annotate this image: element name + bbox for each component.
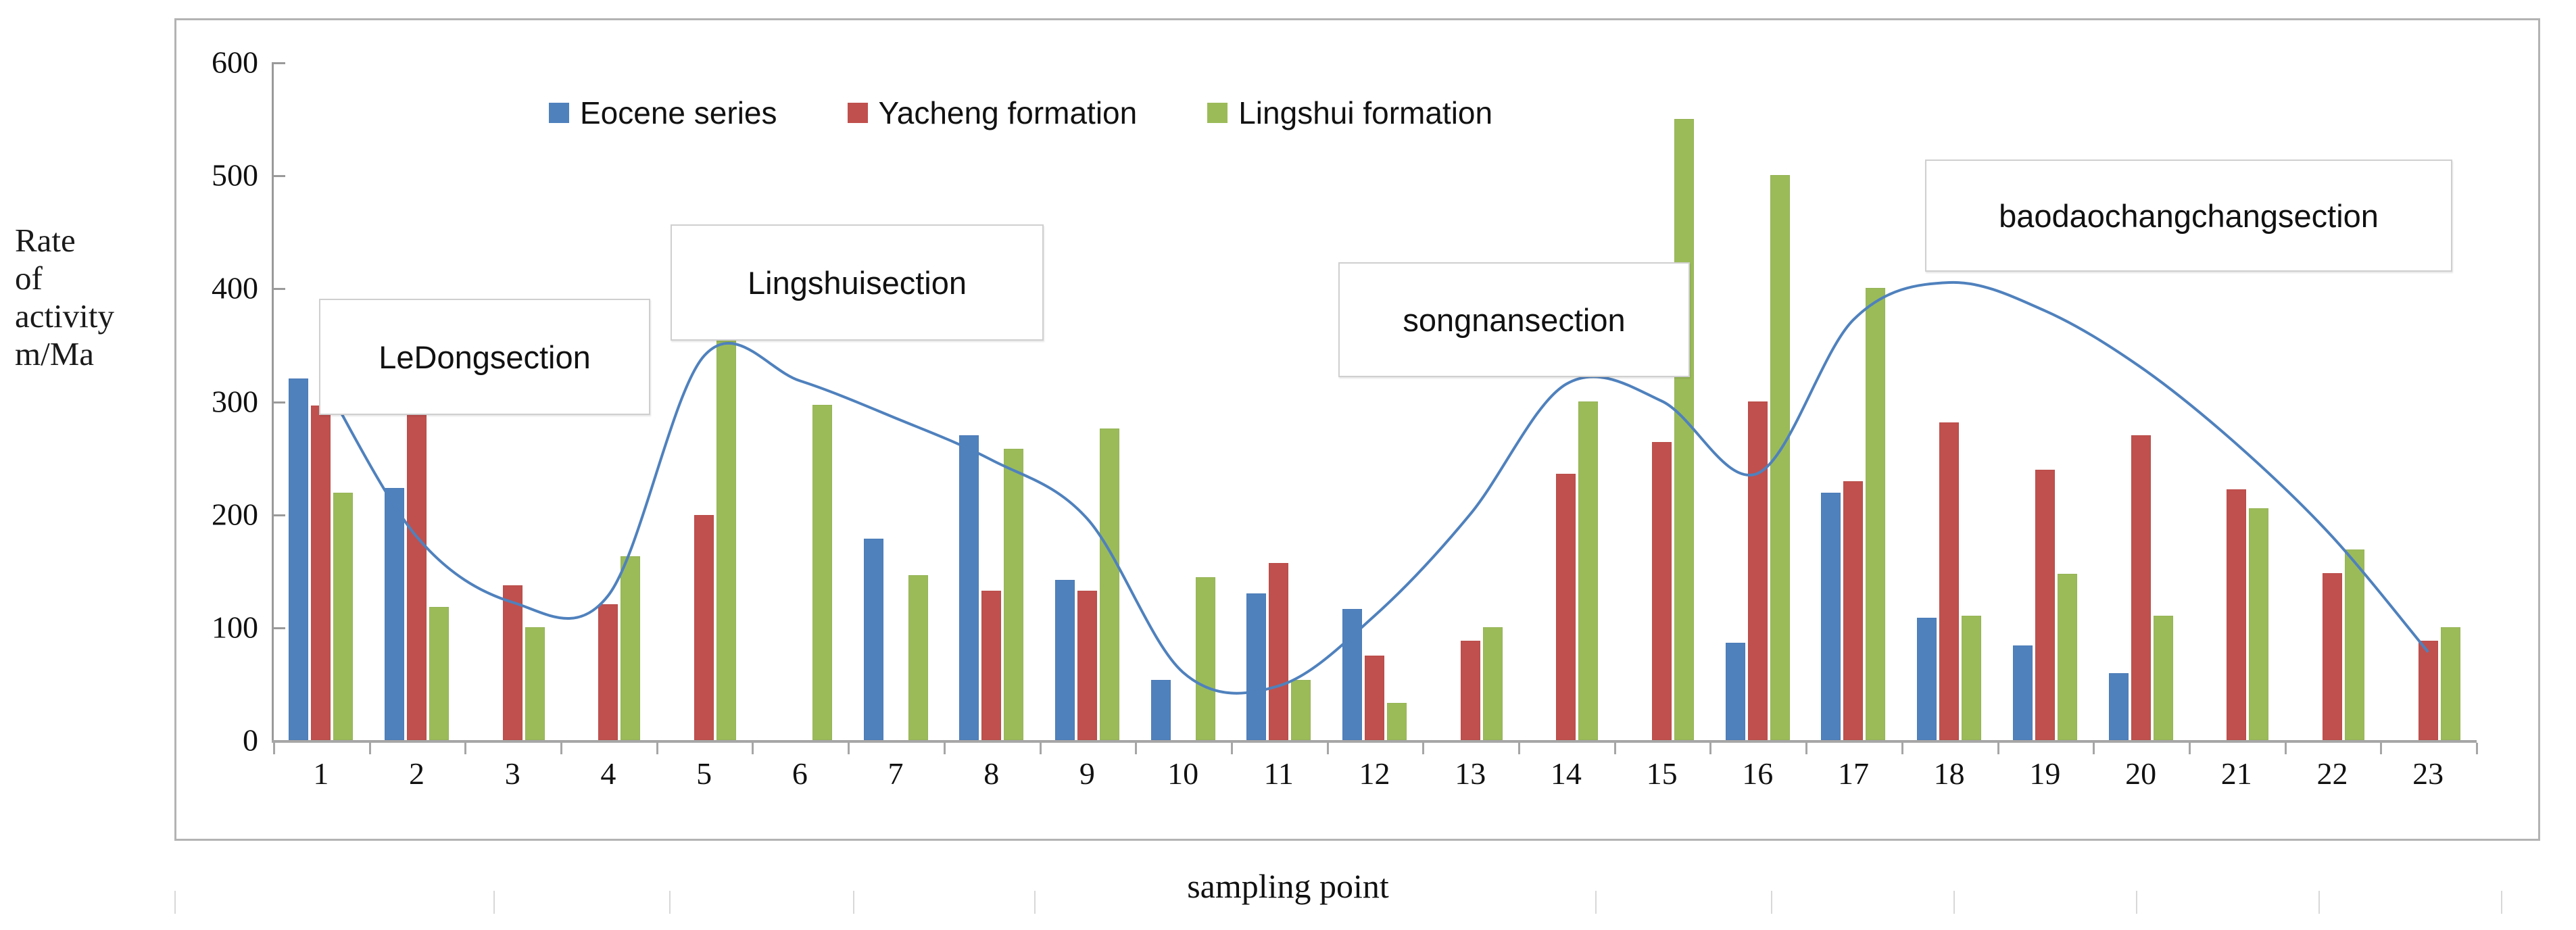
x-tick-label: 4: [568, 756, 649, 791]
legend-swatch-icon: [848, 103, 868, 123]
bar-group: [1518, 62, 1614, 740]
bar-group: [656, 62, 752, 740]
bar-eocene: [1821, 493, 1841, 740]
bar-group: [1709, 62, 1805, 740]
bar-yacheng: [2419, 641, 2438, 740]
annotation-callout: baodaochangchangsection: [1925, 160, 2452, 272]
x-tick-label: 23: [2387, 756, 2469, 791]
bar-lingshui: [1100, 429, 1119, 740]
bar-yacheng: [1652, 442, 1672, 740]
bar-lingshui: [621, 556, 640, 740]
x-tick-mark: [656, 743, 658, 754]
annotation-callout: Lingshuisection: [671, 224, 1044, 341]
annotation-callout: songnansection: [1338, 262, 1690, 377]
bar-eocene: [1151, 680, 1171, 740]
bar-group: [1040, 62, 1136, 740]
x-tick-label: 10: [1142, 756, 1223, 791]
x-tick-mark: [1901, 743, 1903, 754]
bar-yacheng: [503, 585, 523, 740]
bar-eocene: [2013, 645, 2033, 740]
bar-eocene: [1246, 593, 1266, 740]
bar-yacheng: [2323, 573, 2342, 740]
y-tick-label: 200: [157, 496, 258, 532]
y-tick-label: 0: [157, 723, 258, 758]
bar-lingshui: [1291, 680, 1311, 740]
bar-eocene: [1917, 618, 1937, 740]
bar-yacheng: [1365, 656, 1384, 740]
bar-yacheng: [1461, 641, 1480, 740]
x-tick-mark: [1518, 743, 1520, 754]
bar-eocene: [1055, 580, 1075, 740]
bar-lingshui: [1196, 577, 1215, 740]
bar-group: [944, 62, 1040, 740]
bar-eocene: [959, 435, 979, 740]
legend-label: Eocene series: [580, 95, 777, 131]
bar-group: [752, 62, 848, 740]
bar-yacheng: [1748, 401, 1768, 741]
bar-yacheng: [1269, 563, 1288, 740]
bar-lingshui: [333, 493, 353, 740]
x-tick-label: 21: [2196, 756, 2277, 791]
x-tick-mark: [1614, 743, 1616, 754]
x-tick-mark: [1422, 743, 1424, 754]
bar-group: [1805, 62, 1901, 740]
bar-lingshui: [1674, 119, 1694, 740]
bar-group: [1327, 62, 1423, 740]
x-tick-label: 19: [2004, 756, 2085, 791]
x-tick-mark: [1231, 743, 1233, 754]
x-tick-mark: [2285, 743, 2287, 754]
bar-group: [1614, 62, 1710, 740]
bar-group: [848, 62, 944, 740]
chart-legend: Eocene seriesYacheng formationLingshui f…: [549, 95, 1563, 131]
legend-item-eocene[interactable]: Eocene series: [549, 95, 777, 131]
x-tick-mark: [273, 743, 275, 754]
bar-lingshui: [1387, 703, 1407, 740]
bar-lingshui: [716, 326, 736, 740]
bar-lingshui: [1483, 627, 1503, 740]
legend-swatch-icon: [1207, 103, 1228, 123]
y-axis-title-line: m/Ma: [15, 335, 164, 373]
bar-eocene: [2109, 673, 2129, 740]
bar-yacheng: [1843, 481, 1863, 740]
bar-lingshui: [1770, 175, 1790, 740]
bar-lingshui: [1962, 616, 1981, 740]
bar-yacheng: [311, 406, 331, 740]
bar-eocene: [289, 378, 308, 740]
x-tick-mark: [1805, 743, 1807, 754]
y-tick-label: 100: [157, 609, 258, 645]
ruler-tick: [853, 891, 854, 914]
y-axis-title: Rateofactivitym/Ma: [15, 222, 164, 373]
x-tick-label: 22: [2291, 756, 2373, 791]
bar-lingshui: [525, 627, 545, 740]
bar-yacheng: [1077, 591, 1097, 740]
bar-eocene: [864, 539, 883, 740]
x-tick-label: 9: [1046, 756, 1127, 791]
y-axis-title-line: activity: [15, 297, 164, 335]
bar-lingshui: [812, 405, 832, 740]
x-tick-label: 2: [376, 756, 458, 791]
bar-yacheng: [2131, 435, 2151, 740]
x-tick-label: 7: [855, 756, 936, 791]
bar-lingshui: [2249, 508, 2268, 740]
bar-lingshui: [1578, 401, 1598, 741]
x-tick-mark: [560, 743, 562, 754]
bar-lingshui: [2441, 627, 2460, 740]
legend-swatch-icon: [549, 103, 569, 123]
legend-label: Yacheng formation: [879, 95, 1138, 131]
y-axis-title-line: Rate: [15, 222, 164, 260]
bar-lingshui: [908, 575, 928, 740]
x-tick-mark: [2476, 743, 2478, 754]
x-tick-mark: [2093, 743, 2095, 754]
ruler-tick: [1595, 891, 1597, 914]
bar-eocene: [1726, 643, 1745, 740]
bar-yacheng: [1556, 474, 1576, 741]
bar-lingshui: [2058, 574, 2077, 740]
bar-lingshui: [1004, 449, 1023, 740]
x-tick-label: 14: [1526, 756, 1607, 791]
bar-yacheng: [694, 515, 714, 740]
x-tick-mark: [464, 743, 466, 754]
x-tick-mark: [2189, 743, 2191, 754]
x-tick-mark: [2380, 743, 2382, 754]
bar-yacheng: [407, 390, 427, 740]
x-tick-mark: [1040, 743, 1042, 754]
x-tick-mark: [1997, 743, 1999, 754]
x-tick-label: 3: [472, 756, 553, 791]
x-tick-label: 18: [1909, 756, 1990, 791]
x-tick-mark: [369, 743, 371, 754]
y-tick-label: 600: [157, 45, 258, 80]
x-tick-label: 8: [951, 756, 1032, 791]
y-tick-label: 500: [157, 157, 258, 193]
x-tick-label: 17: [1813, 756, 1894, 791]
chart-figure: Rateofactivitym/Ma 0100200300400500600 1…: [0, 0, 2576, 930]
bar-lingshui: [2345, 549, 2364, 741]
bar-group: [1422, 62, 1518, 740]
x-tick-label: 1: [281, 756, 362, 791]
bar-eocene: [1342, 609, 1362, 740]
x-tick-mark: [752, 743, 754, 754]
x-tick-label: 20: [2100, 756, 2181, 791]
ruler-tick: [2501, 891, 2502, 914]
x-tick-label: 13: [1430, 756, 1511, 791]
bar-yacheng: [981, 591, 1001, 740]
ruler-tick: [2318, 891, 2320, 914]
ruler-tick: [493, 891, 495, 914]
ruler-tick: [1771, 891, 1772, 914]
bar-lingshui: [1866, 288, 1885, 740]
bar-yacheng: [2035, 470, 2055, 740]
x-tick-mark: [944, 743, 946, 754]
bar-eocene: [385, 488, 404, 740]
bar-yacheng: [2227, 489, 2246, 740]
ruler-tick: [2136, 891, 2137, 914]
ruler-tick: [174, 891, 176, 914]
ruler-tick: [669, 891, 671, 914]
y-tick-label: 300: [157, 383, 258, 419]
x-tick-label: 6: [759, 756, 840, 791]
y-tick-label: 400: [157, 270, 258, 306]
bar-yacheng: [1939, 422, 1959, 740]
y-axis-title-line: of: [15, 260, 164, 297]
x-tick-mark: [848, 743, 850, 754]
x-tick-mark: [1327, 743, 1329, 754]
x-tick-label: 12: [1334, 756, 1415, 791]
x-axis-title: sampling point: [0, 866, 2576, 906]
bar-group: [1231, 62, 1327, 740]
ruler-tick: [1034, 891, 1036, 914]
x-tick-mark: [1709, 743, 1711, 754]
bar-group: [1135, 62, 1231, 740]
x-tick-label: 16: [1717, 756, 1798, 791]
annotation-callout: LeDongsection: [319, 299, 650, 415]
legend-label: Lingshui formation: [1238, 95, 1492, 131]
x-tick-mark: [1135, 743, 1137, 754]
bar-yacheng: [598, 604, 618, 740]
x-tick-label: 5: [664, 756, 745, 791]
x-tick-label: 15: [1622, 756, 1703, 791]
legend-item-lingshui[interactable]: Lingshui formation: [1207, 95, 1492, 131]
ruler-tick: [1953, 891, 1955, 914]
x-tick-label: 11: [1238, 756, 1319, 791]
bar-lingshui: [429, 607, 449, 740]
bar-lingshui: [2154, 616, 2173, 740]
x-axis-line: [272, 740, 2477, 743]
legend-item-yacheng[interactable]: Yacheng formation: [848, 95, 1138, 131]
